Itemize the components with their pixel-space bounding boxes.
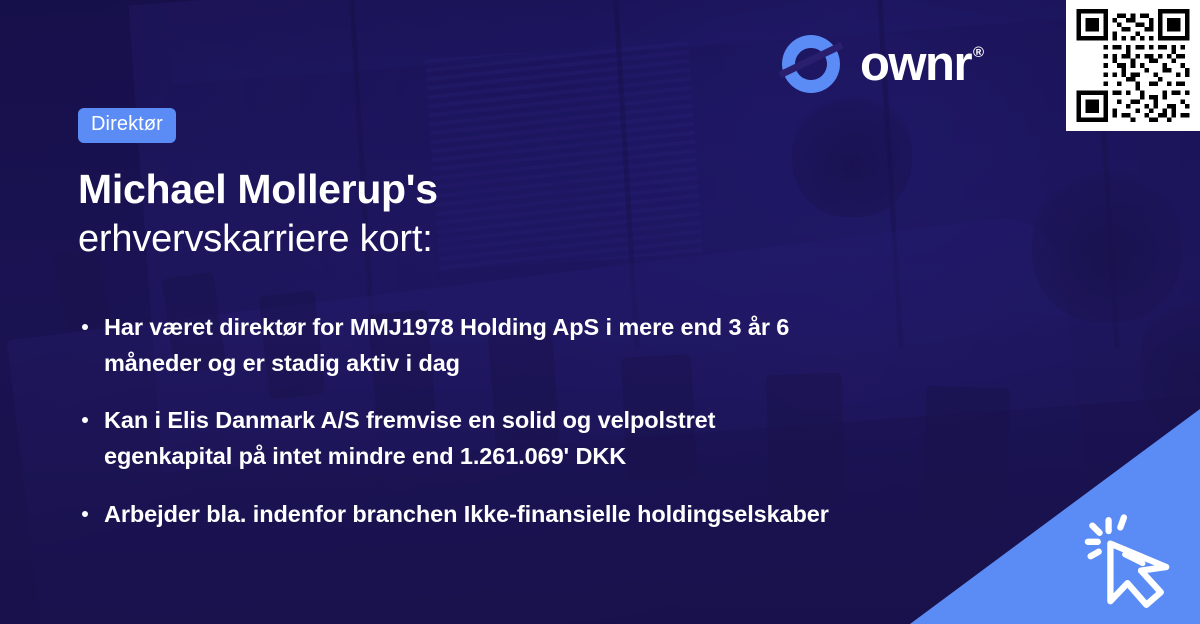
list-item: Har været direktør for MMJ1978 Holding A… — [78, 310, 838, 381]
ownr-circle-swirl-logo-icon — [778, 31, 844, 97]
bullet-dot-icon — [82, 324, 88, 330]
list-item-text: Har været direktør for MMJ1978 Holding A… — [104, 314, 789, 376]
ownr-logo[interactable]: ownr ® — [778, 31, 983, 97]
role-badge: Direktør — [78, 108, 176, 143]
bullet-dot-icon — [82, 511, 88, 517]
list-item: Arbejder bla. indenfor branchen Ikke-fin… — [78, 497, 838, 533]
click-cursor-icon — [1078, 504, 1186, 612]
headline-block: Direktør Michael Mollerup's erhvervskarr… — [78, 108, 978, 263]
bullet-dot-icon — [82, 417, 88, 423]
qr-code-icon — [1075, 9, 1191, 122]
career-card: ownr ® Direktør Michael Mollerup's erhve… — [0, 0, 1200, 624]
registered-trademark-symbol: ® — [973, 45, 983, 60]
page-title: Michael Mollerup's erhvervskarriere kort… — [78, 165, 978, 263]
qr-code[interactable] — [1066, 0, 1200, 131]
list-item-text: Kan i Elis Danmark A/S fremvise en solid… — [104, 407, 715, 469]
list-item: Kan i Elis Danmark A/S fremvise en solid… — [78, 403, 838, 474]
career-highlights-list: Har været direktør for MMJ1978 Holding A… — [78, 310, 978, 533]
page-title-line1: Michael Mollerup's — [78, 165, 978, 213]
page-title-line2: erhvervskarriere kort: — [78, 217, 978, 263]
list-item-text: Arbejder bla. indenfor branchen Ikke-fin… — [104, 501, 829, 527]
wordmark-text: ownr — [860, 40, 971, 89]
ownr-wordmark: ownr ® — [860, 40, 983, 89]
